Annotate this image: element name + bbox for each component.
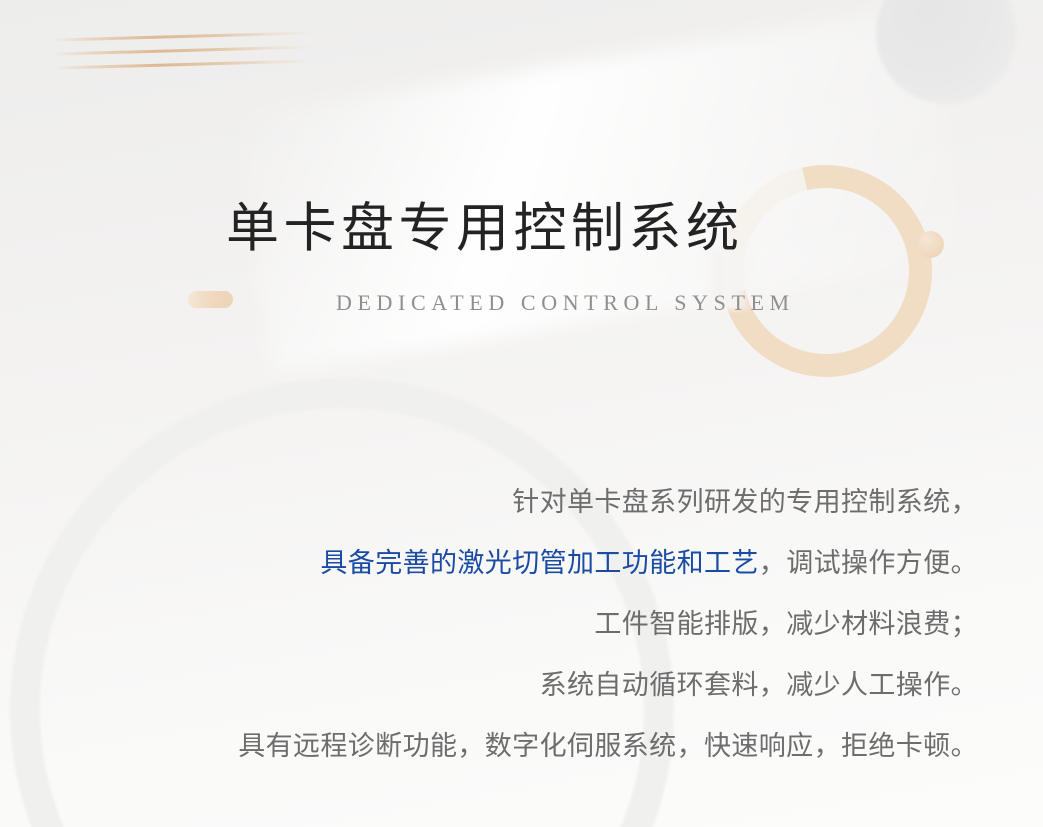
accent-line-1	[52, 31, 314, 41]
tan-ring-gap-mask	[710, 250, 754, 310]
body-line-3-seg-1: 工件智能排版，减少材料浪费；	[594, 609, 978, 639]
tan-dot-decoration	[917, 231, 944, 258]
body-line-2: 具备完善的激光切管加工功能和工艺，调试操作方便。	[60, 533, 978, 594]
page-title: 单卡盘专用控制系统	[226, 200, 744, 257]
body-line-2-seg-2: ，调试操作方便。	[759, 548, 978, 578]
soft-gray-circle-decoration	[876, 0, 1016, 104]
body-line-1: 针对单卡盘系列研发的专用控制系统，	[60, 472, 978, 533]
body-copy-block: 针对单卡盘系列研发的专用控制系统， 具备完善的激光切管加工功能和工艺，调试操作方…	[60, 472, 978, 777]
accent-lines-decoration	[51, 24, 314, 77]
body-line-2-highlight: 具备完善的激光切管加工功能和工艺	[320, 548, 758, 578]
accent-line-3	[52, 59, 314, 69]
body-line-4-seg-1: 系统自动循环套料，减少人工操作。	[540, 670, 978, 700]
body-line-5: 具有远程诊断功能，数字化伺服系统，快速响应，拒绝卡顿。	[60, 716, 978, 777]
body-line-4: 系统自动循环套料，减少人工操作。	[60, 655, 978, 716]
accent-line-2	[52, 45, 314, 55]
body-line-3: 工件智能排版，减少材料浪费；	[60, 594, 978, 655]
body-line-1-seg-1: 针对单卡盘系列研发的专用控制系统，	[512, 487, 978, 517]
body-line-5-seg-1: 具有远程诊断功能，数字化伺服系统，快速响应，拒绝卡顿。	[238, 731, 978, 761]
poster-canvas: 单卡盘专用控制系统 DEDICATED CONTROL SYSTEM 针对单卡盘…	[0, 0, 1043, 827]
tan-pill-decoration	[188, 291, 233, 308]
